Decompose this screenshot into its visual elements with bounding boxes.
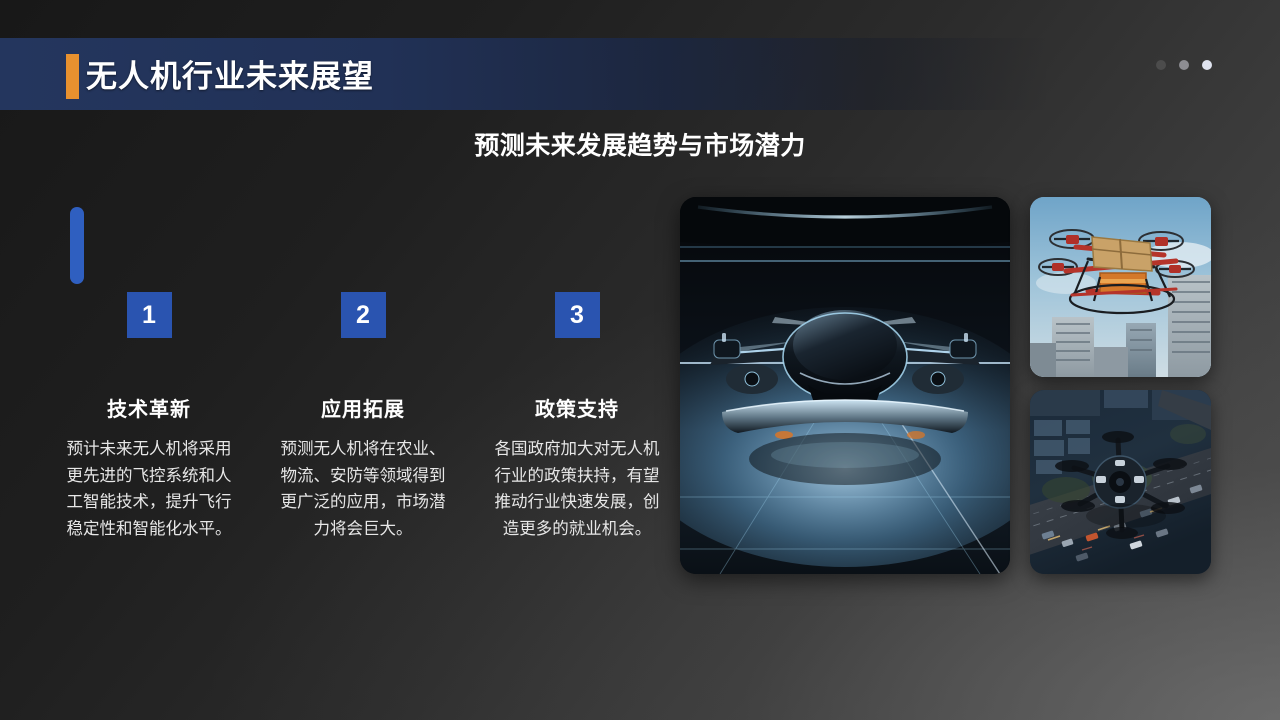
column-title: 政策支持 xyxy=(484,393,670,422)
feature-column-2: 2 应用拓展 预测无人机将在农业、物流、安防等领域得到更广泛的应用，市场潜力将会… xyxy=(270,292,456,543)
delivery-drone-city-photo xyxy=(1030,197,1211,377)
column-number-badge: 2 xyxy=(341,292,386,338)
dot-mid-icon xyxy=(1179,60,1189,70)
slide-subtitle: 预测未来发展趋势与市场潜力 xyxy=(0,126,1280,162)
feature-column-3: 3 政策支持 各国政府加大对无人机行业的政策扶持，有望推动行业快速发展，创造更多… xyxy=(484,292,670,543)
column-number-badge: 3 xyxy=(555,292,600,338)
section-marker-bar xyxy=(70,207,84,284)
aerial-drone-traffic-photo xyxy=(1030,390,1211,574)
column-number-badge: 1 xyxy=(127,292,172,338)
feature-column-1: 1 技术革新 预计未来无人机将采用更先进的飞控系统和人工智能技术，提升飞行稳定性… xyxy=(56,292,242,543)
header-dots-indicator xyxy=(1156,60,1212,70)
feature-columns: 1 技术革新 预计未来无人机将采用更先进的飞控系统和人工智能技术，提升飞行稳定性… xyxy=(56,292,676,543)
column-body-text: 各国政府加大对无人机行业的政策扶持，有望推动行业快速发展，创造更多的就业机会。 xyxy=(484,436,670,543)
column-body-text: 预计未来无人机将采用更先进的飞控系统和人工智能技术，提升飞行稳定性和智能化水平。 xyxy=(56,436,242,543)
dot-dim-icon xyxy=(1156,60,1166,70)
presentation-slide: 无人机行业未来展望 预测未来发展趋势与市场潜力 1 技术革新 预计未来无人机将采… xyxy=(0,0,1280,720)
title-accent-bar xyxy=(66,54,79,99)
column-body-text: 预测无人机将在农业、物流、安防等领域得到更广泛的应用，市场潜力将会巨大。 xyxy=(270,436,456,543)
dot-bright-icon xyxy=(1202,60,1212,70)
futuristic-drone-hangar-photo xyxy=(680,197,1010,574)
column-title: 技术革新 xyxy=(56,393,242,422)
column-title: 应用拓展 xyxy=(270,393,456,422)
page-title: 无人机行业未来展望 xyxy=(86,54,374,99)
